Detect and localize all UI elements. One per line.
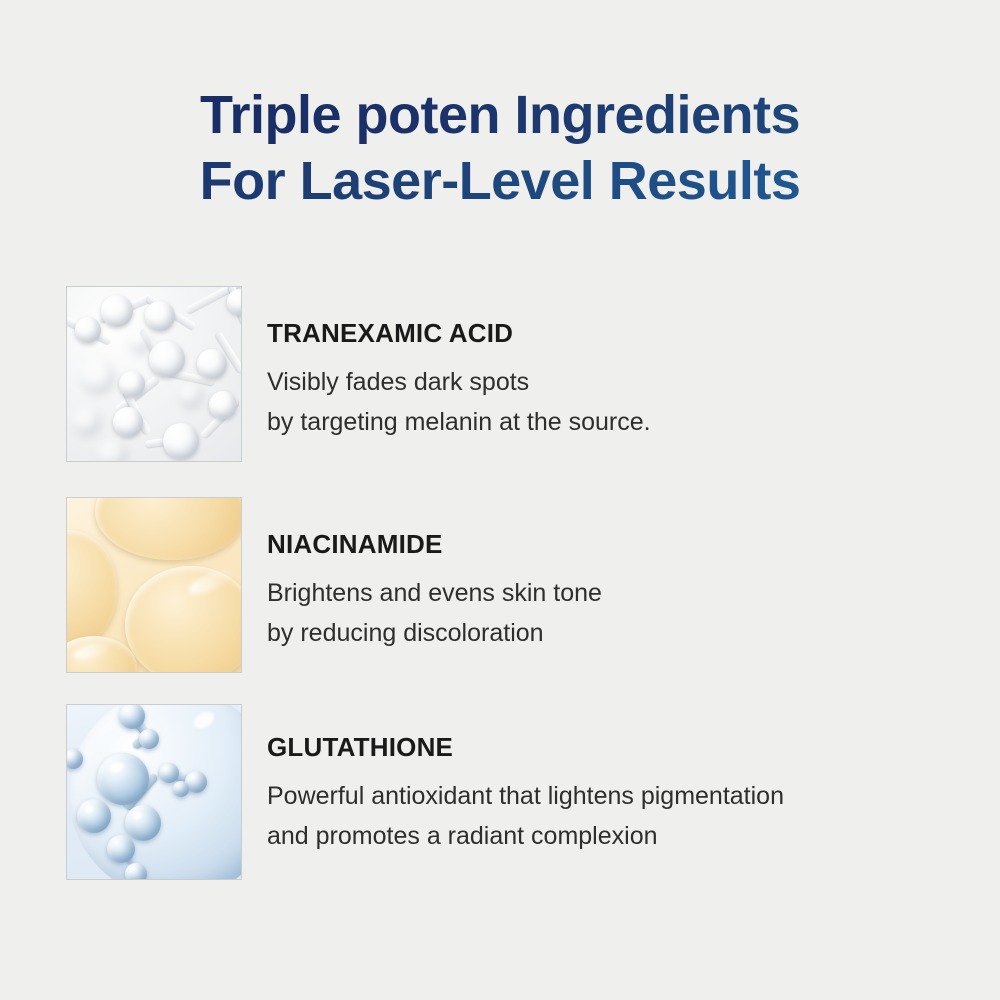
ingredient-row-tranexamic-acid: TRANEXAMIC ACID Visibly fades dark spots… bbox=[66, 286, 966, 462]
ingredient-desc-line-2: by targeting melanin at the source. bbox=[267, 402, 967, 442]
white-molecular-lattice-thumbnail bbox=[66, 286, 242, 462]
ingredient-desc-line-1: Brightens and evens skin tone bbox=[267, 573, 967, 613]
ingredient-desc-line-1: Visibly fades dark spots bbox=[267, 362, 967, 402]
title-line-2: For Laser-Level Results bbox=[0, 148, 1000, 214]
ingredient-desc-line-1: Powerful antioxidant that lightens pigme… bbox=[267, 776, 967, 816]
ingredient-name: GLUTATHIONE bbox=[267, 732, 967, 762]
ingredient-text-niacinamide: NIACINAMIDE Brightens and evens skin ton… bbox=[267, 497, 967, 653]
ingredient-desc-line-2: by reducing discoloration bbox=[267, 613, 967, 653]
ingredient-row-niacinamide: NIACINAMIDE Brightens and evens skin ton… bbox=[66, 497, 966, 673]
page-title: Triple poten Ingredients For Laser-Level… bbox=[0, 82, 1000, 214]
golden-serum-droplets-thumbnail bbox=[66, 497, 242, 673]
ingredient-row-glutathione: GLUTATHIONE Powerful antioxidant that li… bbox=[66, 704, 966, 880]
ingredient-name: TRANEXAMIC ACID bbox=[267, 318, 967, 348]
ingredient-name: NIACINAMIDE bbox=[267, 529, 967, 559]
ingredient-desc-line-2: and promotes a radiant complexion bbox=[267, 816, 967, 856]
ingredient-text-glutathione: GLUTATHIONE Powerful antioxidant that li… bbox=[267, 704, 967, 856]
blue-water-molecule-droplet-thumbnail bbox=[66, 704, 242, 880]
ingredient-infographic: Triple poten Ingredients For Laser-Level… bbox=[0, 0, 1000, 1000]
ingredient-text-tranexamic-acid: TRANEXAMIC ACID Visibly fades dark spots… bbox=[267, 286, 967, 442]
title-line-1: Triple poten Ingredients bbox=[0, 82, 1000, 148]
